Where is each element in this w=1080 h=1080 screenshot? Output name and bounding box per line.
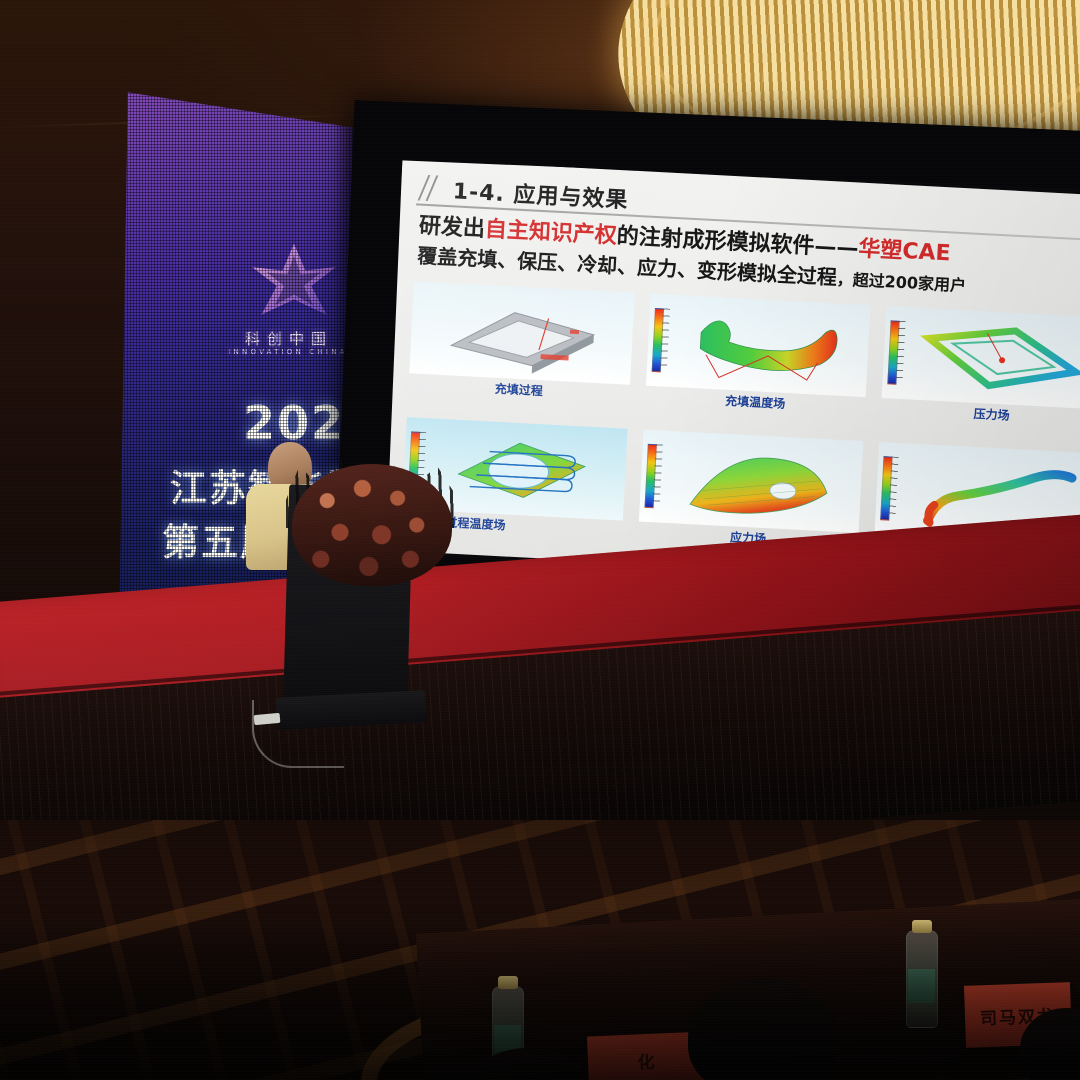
body-text-a: 研发出 <box>418 214 485 242</box>
product-brand-name: 华塑CAE <box>858 237 951 267</box>
body-text-users: ，超过200家用户 <box>836 270 966 296</box>
cae-image-filling-temperature <box>646 294 871 397</box>
stage-cable <box>252 700 344 768</box>
slide-title-row: 1-4. 应用与效果 <box>418 172 629 215</box>
double-slash-icon <box>418 175 441 202</box>
cae-panel: 压力场 <box>880 306 1080 441</box>
conference-photo-scene: 科创中国 INNOVATION CHINA 2021 江苏智能制造 第五届高峰论… <box>0 0 1080 1080</box>
cae-image-pressure-field <box>882 306 1080 409</box>
cae-panel: 充填温度场 <box>644 294 871 429</box>
bottle-label <box>908 969 935 1003</box>
cae-image-stress-field <box>638 430 863 533</box>
body-text-highlight: 自主知识产权 <box>484 217 617 249</box>
bottle-cap <box>912 920 932 933</box>
cae-panel: 充填过程 <box>408 281 635 416</box>
bottle-cap <box>498 976 518 989</box>
flower-arrangement <box>292 464 452 586</box>
banner-logo-chinese: 科创中国 <box>224 328 354 349</box>
water-bottle <box>906 930 938 1028</box>
banner-logo-english: INNOVATION CHINA <box>218 348 358 356</box>
cae-image-filling-process <box>409 281 634 384</box>
innovation-china-star-icon <box>246 238 342 334</box>
